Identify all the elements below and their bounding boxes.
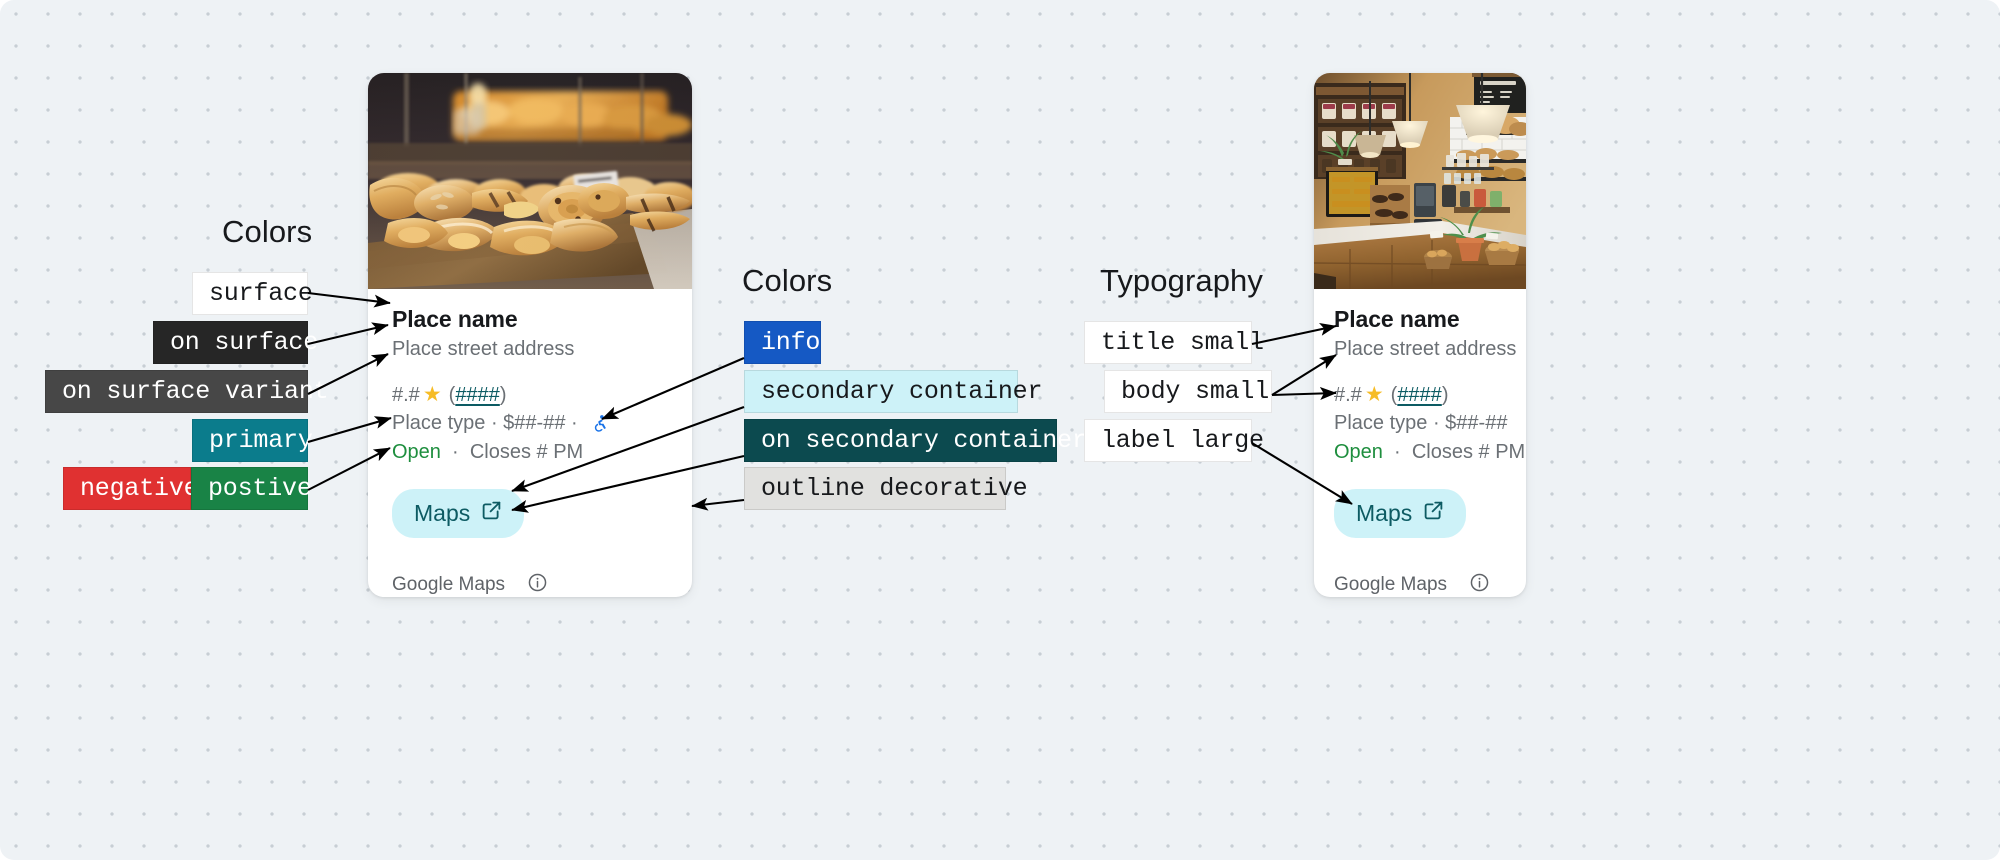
star-icon: ★ [423,384,442,405]
swatch-on-surface-variant[interactable]: on surface variant [45,370,308,413]
card-footer: Google Maps [392,572,668,597]
place-type-row: Place type · $##-## [1334,409,1506,438]
cafe-photo-illustration [1314,73,1526,289]
separator-dot: · [447,441,465,463]
separator-dot: · [565,409,583,438]
separator-dot: · [1389,441,1407,463]
place-photo-bakery [368,73,692,289]
price-range: $##-## [1445,409,1507,438]
swatch-secondary-container[interactable]: secondary container [744,370,1018,413]
separator-dot: · [1427,409,1445,438]
card-footer: Google Maps [1334,572,1506,597]
section-title-colors-left: Colors [222,214,312,250]
swatch-label: outline decorative [761,474,1027,503]
open-status-label: Open [1334,441,1383,463]
price-range: $##-## [503,409,565,438]
swatch-label: info [761,328,820,357]
swatch-label: on secondary container [761,426,1087,455]
place-card-right[interactable]: Place name Place street address #.# ★ ( … [1314,73,1526,597]
design-canvas: Colors Colors Typography surface on surf… [0,0,2000,860]
type-chip-label: label large [1101,426,1264,455]
rating-count-link[interactable]: #### [1397,381,1442,409]
maps-button-label: Maps [1356,500,1412,527]
separator-dot: · [485,409,503,438]
swatch-label: surface [209,279,313,308]
swatch-label: primary [209,426,313,455]
rating-value: #.# [392,381,420,409]
section-title-colors-mid: Colors [742,263,832,299]
type-chip-title-small[interactable]: title small [1084,321,1252,364]
place-type: Place type [392,409,485,438]
hours-row: Open · Closes # PM [1334,438,1506,467]
closing-time-label: Closes # PM [470,441,583,463]
swatch-primary[interactable]: primary [192,419,308,462]
place-type: Place type [1334,409,1427,438]
swatch-on-secondary-container[interactable]: on secondary container [744,419,1057,462]
rating-row: #.# ★ ( #### ) [1334,381,1506,409]
place-card-body: Place name Place street address #.# ★ ( … [368,289,692,597]
section-title-typography: Typography [1100,263,1263,299]
rating-row: #.# ★ ( #### ) [392,381,668,409]
rating-paren-close: ) [1442,381,1449,409]
type-chip-label: body small [1121,377,1269,406]
place-address: Place street address [1334,335,1506,364]
maps-button[interactable]: Maps [1334,489,1466,538]
arrow-outline-to-card-edge [692,500,744,506]
swatch-label: on surface variant [62,377,328,406]
rating-value: #.# [1334,381,1362,409]
place-name: Place name [392,305,668,335]
place-type-row: Place type · $##-## · [392,409,668,438]
type-chip-label: title small [1101,328,1264,357]
place-address: Place street address [392,335,668,364]
bakery-photo-illustration [368,73,692,289]
swatch-negative[interactable]: negative [63,467,191,510]
star-icon: ★ [1365,384,1384,405]
swatch-surface[interactable]: surface [192,272,308,315]
info-circle-icon[interactable] [527,572,548,597]
swatch-outline-decorative[interactable]: outline decorative [744,467,1006,510]
swatch-info[interactable]: info [744,321,821,364]
place-card-body: Place name Place street address #.# ★ ( … [1314,289,1526,597]
swatch-label: secondary container [761,377,1042,406]
hours-row: Open · Closes # PM [392,438,668,467]
closing-time-label: Closes # PM [1412,441,1525,463]
wheelchair-accessible-icon [591,414,609,433]
rating-count-link[interactable]: #### [455,381,500,409]
swatch-label: negative [80,474,198,503]
swatch-label: postive [208,474,312,503]
open-status-label: Open [392,441,441,463]
type-chip-label-large[interactable]: label large [1084,419,1252,462]
place-name: Place name [1334,305,1506,335]
rating-paren-open: ( [449,381,456,409]
type-chip-body-small[interactable]: body small [1104,370,1272,413]
rating-paren-open: ( [1391,381,1398,409]
place-card-center[interactable]: Place name Place street address #.# ★ ( … [368,73,692,597]
info-circle-icon[interactable] [1469,572,1490,597]
external-link-icon [481,500,502,527]
place-photo-cafe [1314,73,1526,289]
maps-button[interactable]: Maps [392,489,524,538]
swatch-postive[interactable]: postive [191,467,308,510]
swatch-label: on surface [170,328,318,357]
swatch-on-surface[interactable]: on surface [153,321,308,364]
maps-button-label: Maps [414,500,470,527]
rating-paren-close: ) [500,381,507,409]
google-maps-attribution: Google Maps [392,574,505,596]
external-link-icon [1423,500,1444,527]
google-maps-attribution: Google Maps [1334,574,1447,596]
